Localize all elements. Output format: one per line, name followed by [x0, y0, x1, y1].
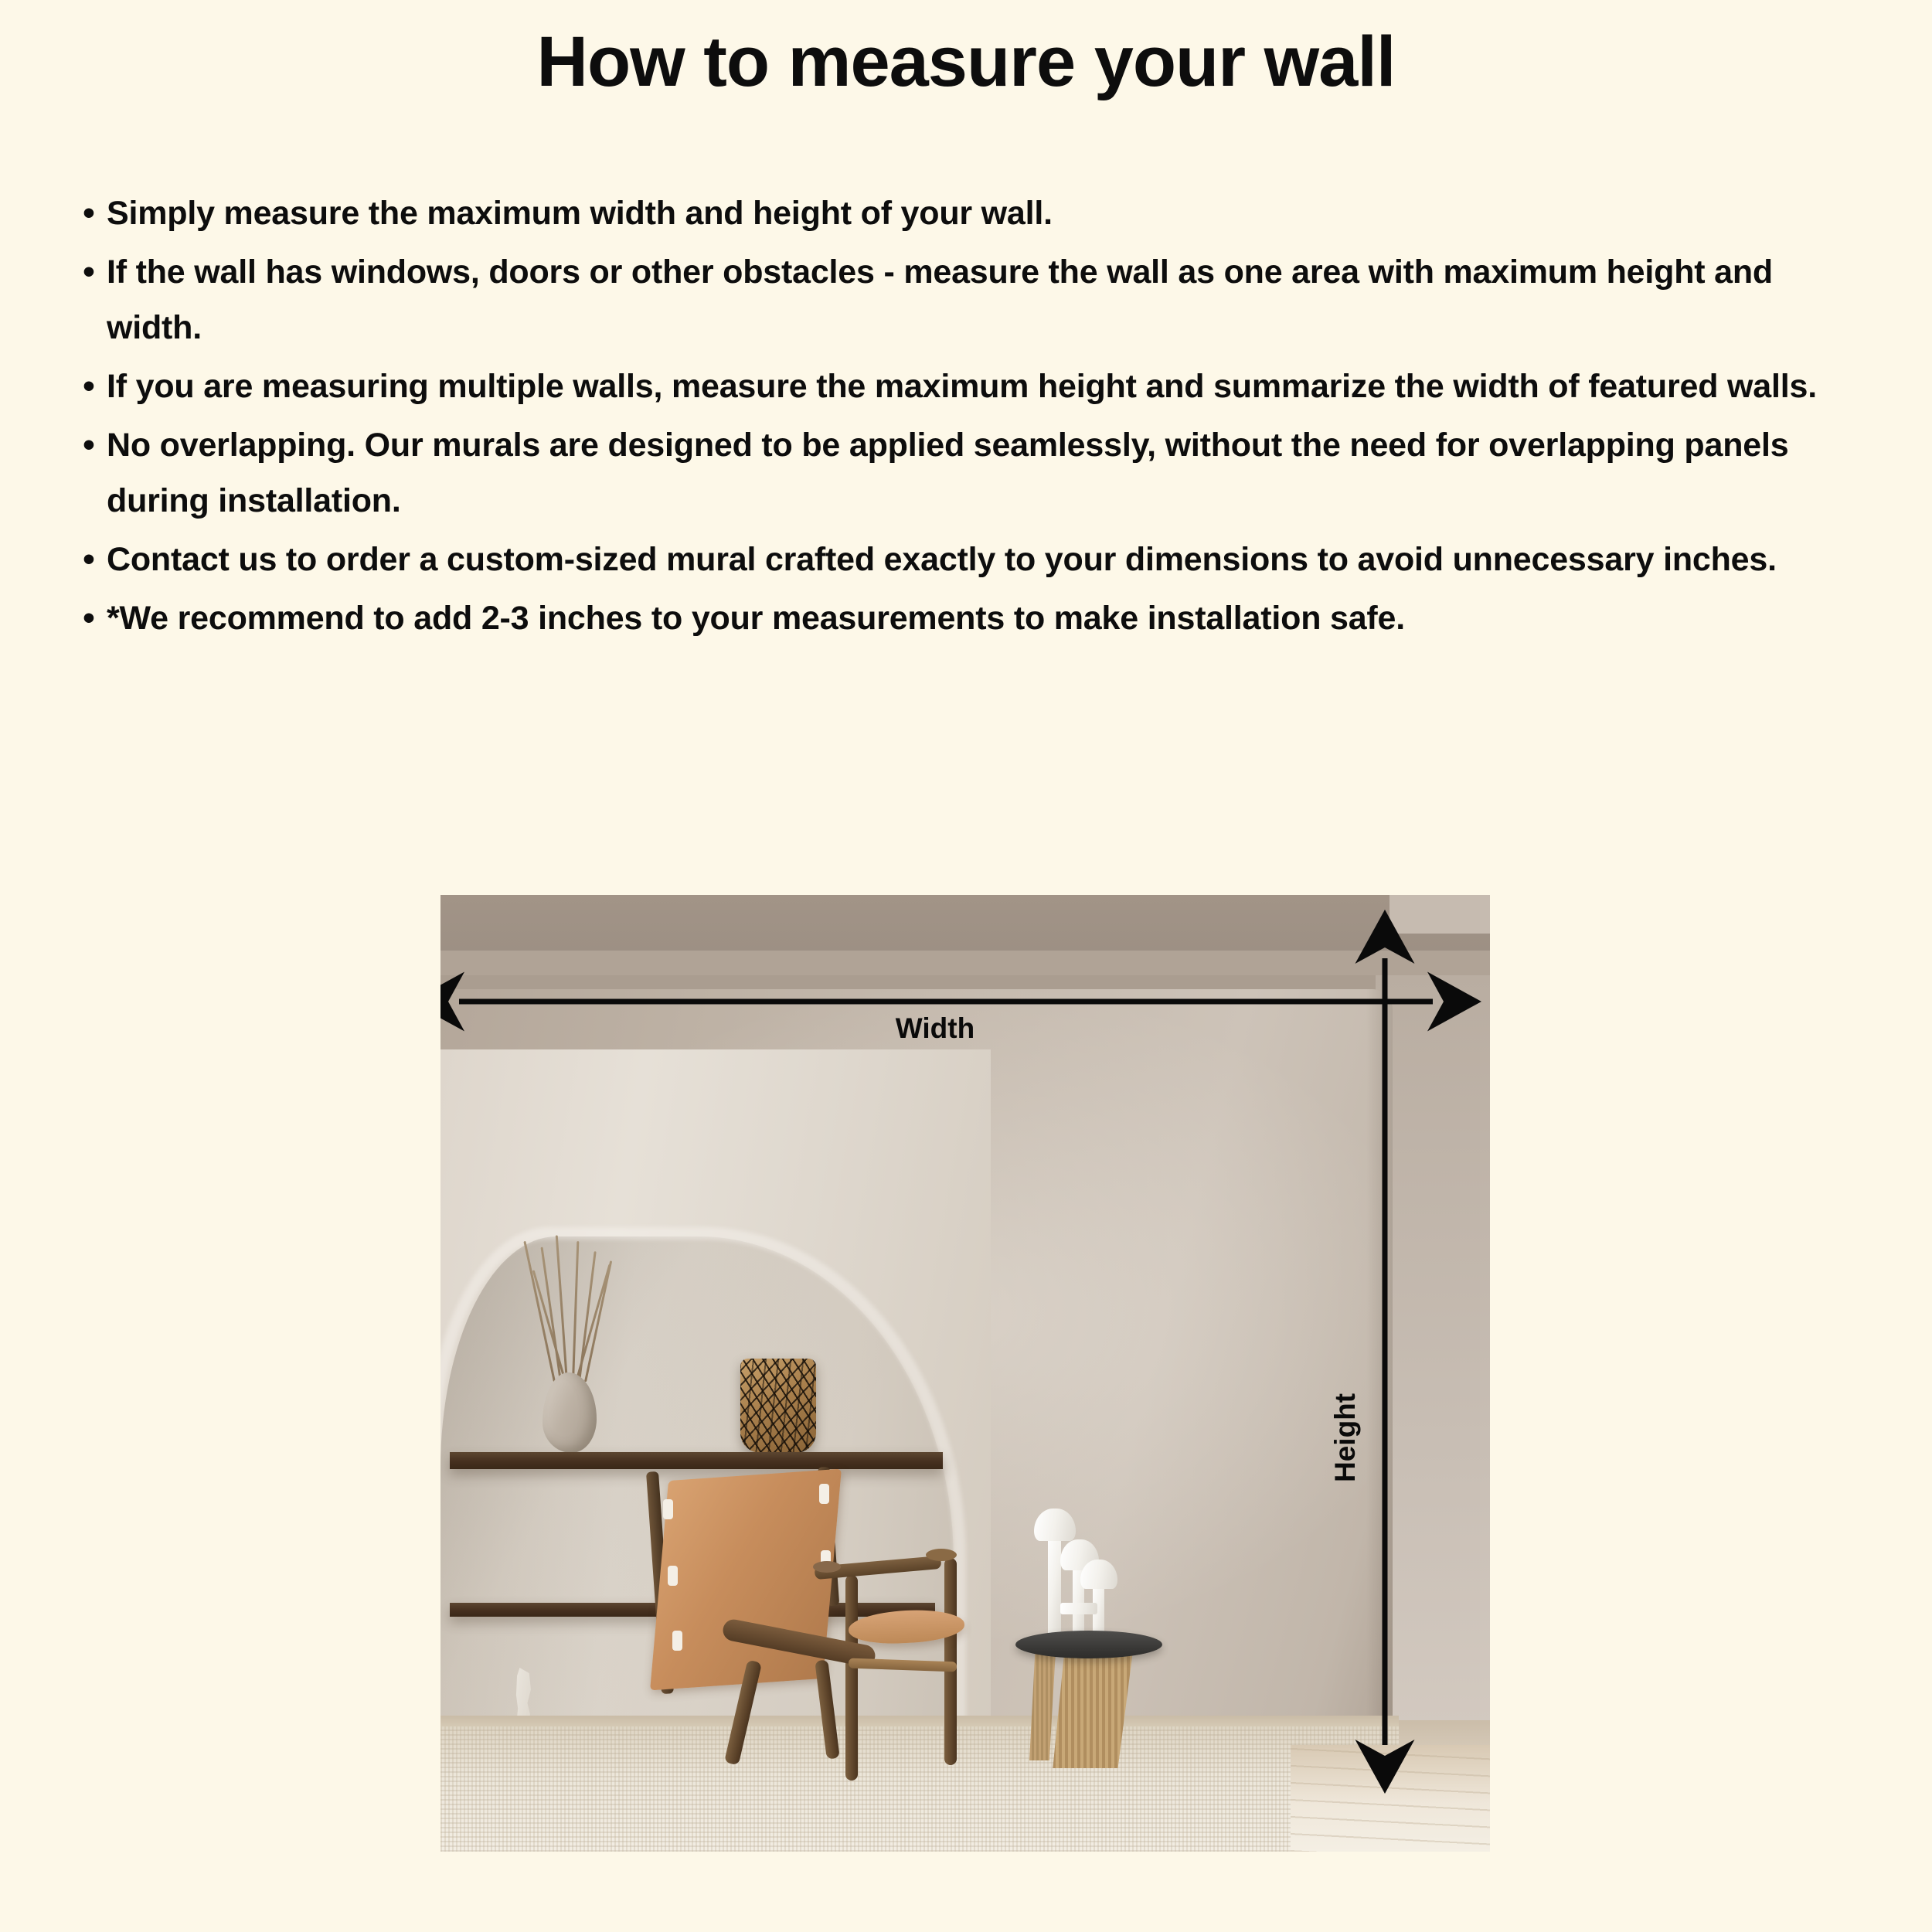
list-item: • If the wall has windows, doors or othe… — [71, 244, 1872, 355]
list-item-text: If you are measuring multiple walls, mea… — [107, 359, 1872, 414]
measurement-overlay: Width Height — [440, 895, 1490, 1852]
list-item: • *We recommend to add 2-3 inches to you… — [71, 590, 1872, 646]
list-item-text: If the wall has windows, doors or other … — [107, 244, 1872, 355]
bullet-icon: • — [71, 244, 107, 300]
bullet-icon: • — [71, 359, 107, 414]
page-title: How to measure your wall — [0, 23, 1932, 101]
bullet-icon: • — [71, 532, 107, 587]
list-item: • If you are measuring multiple walls, m… — [71, 359, 1872, 414]
list-item: • No overlapping. Our murals are designe… — [71, 417, 1872, 529]
list-item: • Simply measure the maximum width and h… — [71, 185, 1872, 241]
instructions-list: • Simply measure the maximum width and h… — [71, 185, 1872, 649]
bullet-icon: • — [71, 185, 107, 241]
bullet-icon: • — [71, 590, 107, 646]
list-item-text: No overlapping. Our murals are designed … — [107, 417, 1872, 529]
list-item-text: *We recommend to add 2-3 inches to your … — [107, 590, 1872, 646]
room-diagram-image: Width Height — [440, 895, 1490, 1852]
list-item: • Contact us to order a custom-sized mur… — [71, 532, 1872, 587]
list-item-text: Contact us to order a custom-sized mural… — [107, 532, 1872, 587]
measure-wall-infographic: How to measure your wall • Simply measur… — [0, 0, 1932, 1932]
height-label: Height — [1329, 1393, 1362, 1482]
width-label: Width — [440, 1012, 1430, 1045]
list-item-text: Simply measure the maximum width and hei… — [107, 185, 1872, 241]
bullet-icon: • — [71, 417, 107, 473]
